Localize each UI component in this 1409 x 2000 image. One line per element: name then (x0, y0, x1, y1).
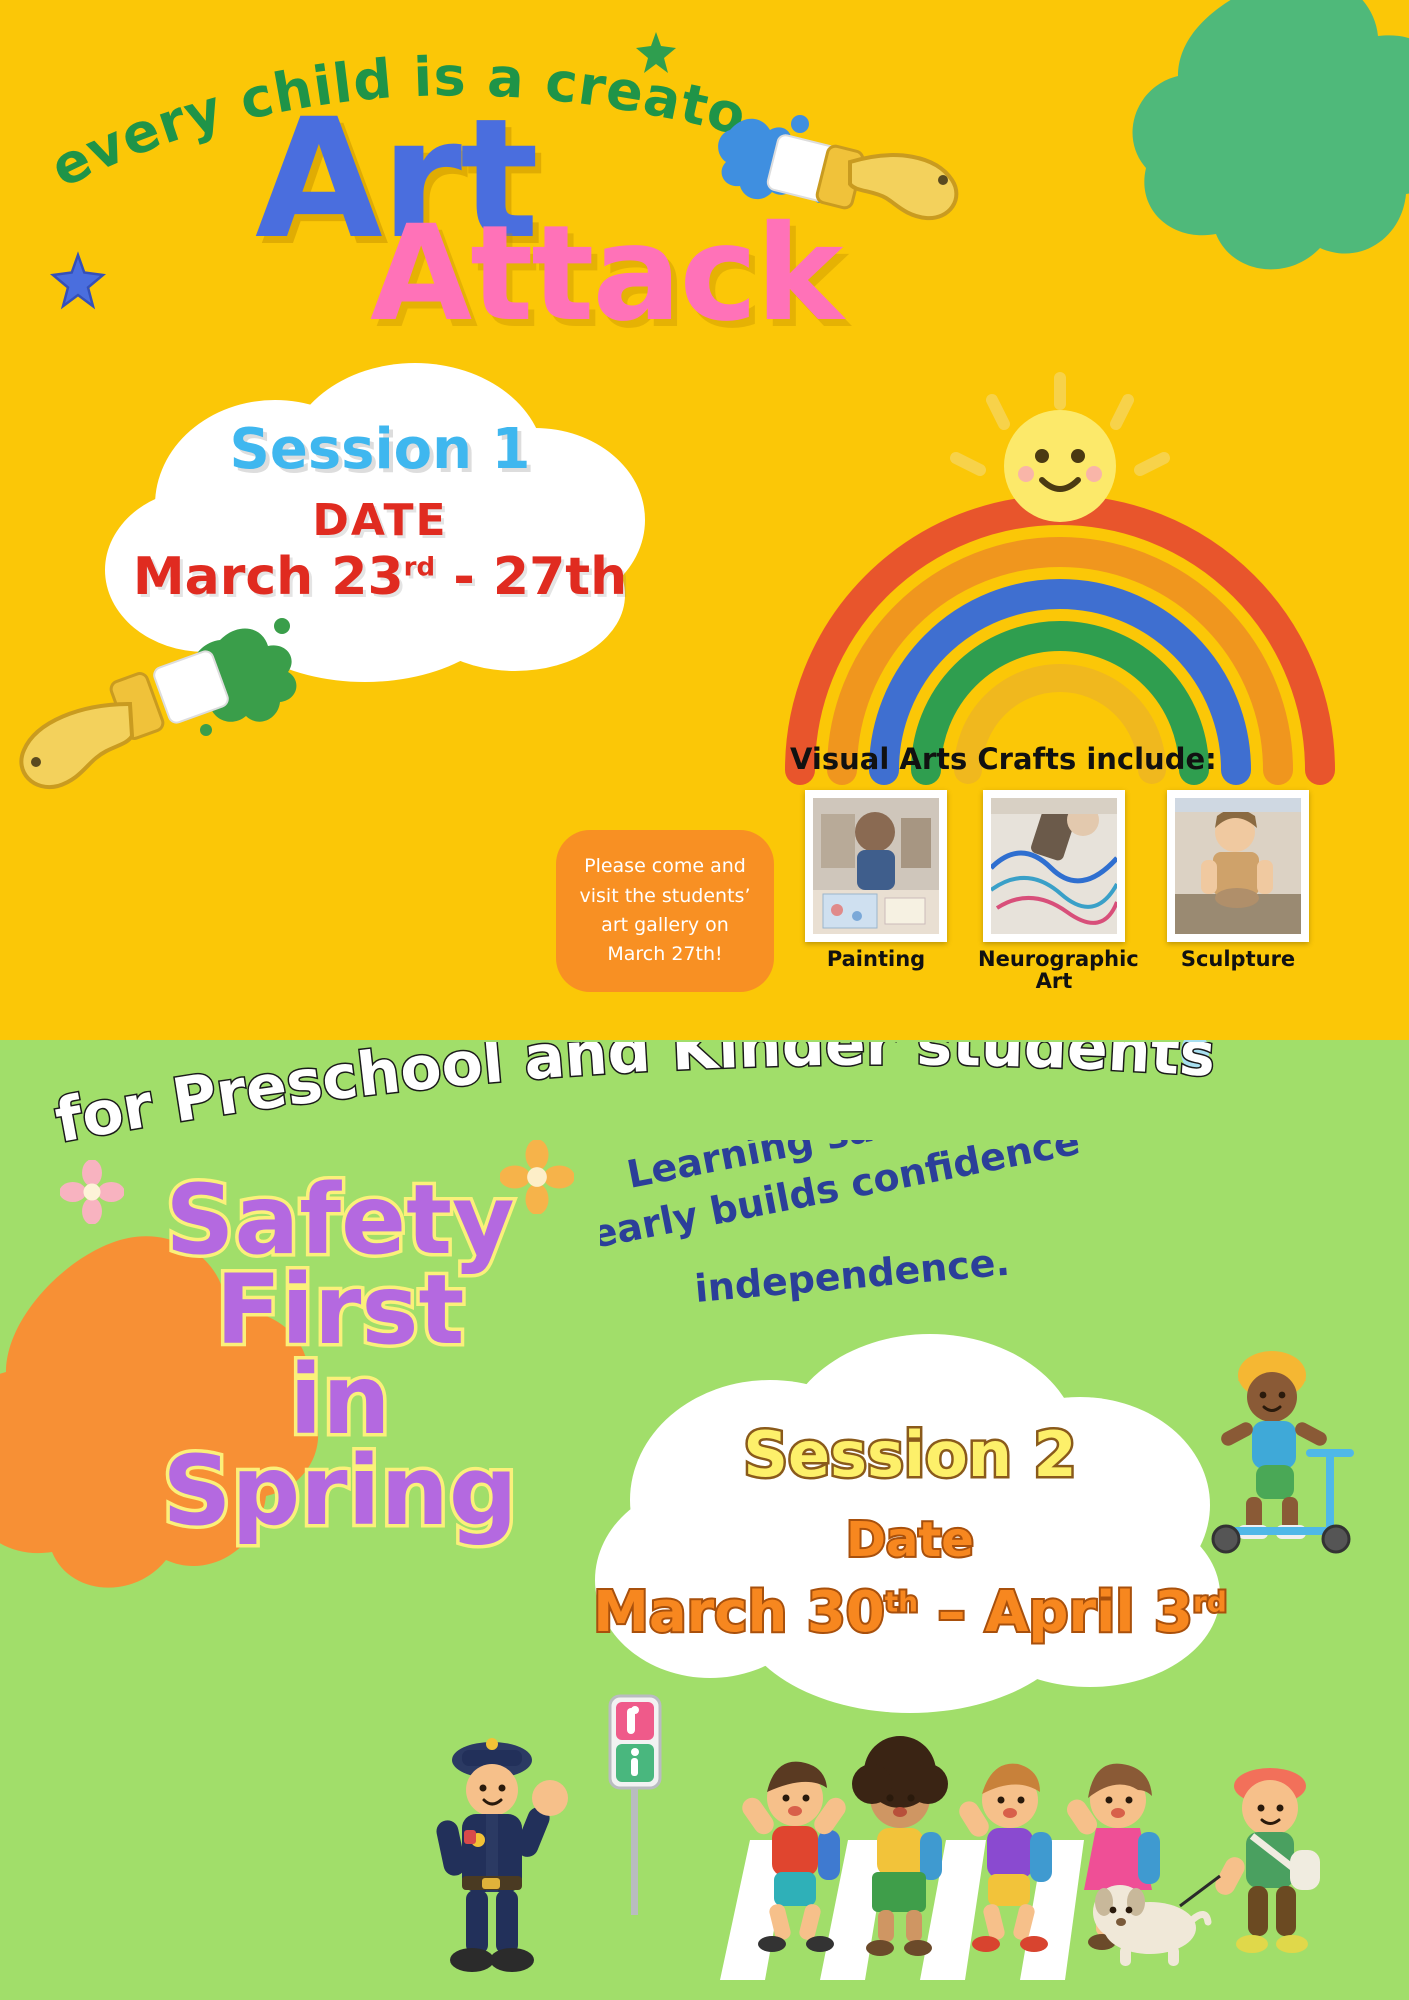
safety-blurb: Learning safety habits early builds conf… (600, 1140, 1070, 1305)
craft-item: Sculpture (1162, 790, 1314, 970)
session2-date-label: Date (590, 1512, 1230, 1568)
poster-canvas: every child is a creator! Art Attack (0, 0, 1409, 2000)
craft-label: Painting (800, 948, 952, 970)
craft-item: Neurographic Art (978, 790, 1130, 992)
safety-title-line1: Safety First (75, 1175, 605, 1355)
paintbrush-blue-splash-icon (700, 100, 980, 270)
session2-date-range: March 30th – April 3rd (590, 1580, 1230, 1645)
session2-date-b-sup: rd (1193, 1585, 1227, 1618)
craft-item: Painting (800, 790, 952, 970)
session1-date-range: March 23rd - 27th (95, 547, 665, 607)
safety-title-line3: Spring (75, 1446, 605, 1536)
painting-photo (805, 790, 947, 942)
session2-date-a-sup: th (885, 1585, 918, 1618)
art-attack-section: every child is a creator! Art Attack (0, 0, 1409, 1040)
svg-text:for Preschool and Kinder stude: for Preschool and Kinder students (50, 1042, 1218, 1152)
gallery-callout-text: Please come and visit the students’ art … (556, 852, 774, 970)
session1-heading: Session 1 (95, 417, 665, 482)
audience-line-text: for Preschool and Kinder students (50, 1042, 1218, 1152)
safety-blurb-line3: independence. (693, 1240, 1011, 1311)
child-on-scooter-icon (1190, 1335, 1370, 1555)
smiling-sun-icon (956, 378, 1164, 522)
session2-date-mid: – April 3 (918, 1580, 1193, 1645)
session1-date-label: DATE (95, 495, 665, 546)
safety-title-line2: in (75, 1355, 605, 1445)
blue-star-icon (48, 250, 108, 314)
craft-label: Neurographic Art (978, 948, 1130, 992)
paintbrush-green-splash-icon (10, 600, 310, 800)
craft-label: Sculpture (1162, 948, 1314, 970)
safety-title: Safety First in Spring (75, 1175, 605, 1536)
session2-cloud: Session 2 Date March 30th – April 3rd (590, 1330, 1230, 1720)
green-blob-decoration (1128, 0, 1409, 280)
session1-date-prefix: March 23 (133, 547, 404, 607)
session2-heading: Session 2 (590, 1418, 1230, 1491)
gallery-callout: Please come and visit the students’ art … (556, 830, 774, 992)
session1-date-suffix: - 27th (435, 547, 627, 607)
neurographic-photo (983, 790, 1125, 942)
child-with-dog-icon (1180, 1768, 1320, 1953)
audience-line: for Preschool and Kinder students (50, 1042, 1380, 1152)
crafts-title: Visual Arts Crafts include: (790, 742, 1217, 776)
session1-date-sup: rd (404, 553, 435, 583)
street-safety-scene (420, 1680, 1409, 2000)
sculpture-photo (1167, 790, 1309, 942)
pedestrian-traffic-light-icon (610, 1696, 660, 1915)
green-star-icon (632, 28, 680, 80)
police-officer-icon (434, 1738, 568, 1972)
session2-date-a: March 30 (593, 1580, 885, 1645)
rainbow-illustration (760, 370, 1380, 790)
